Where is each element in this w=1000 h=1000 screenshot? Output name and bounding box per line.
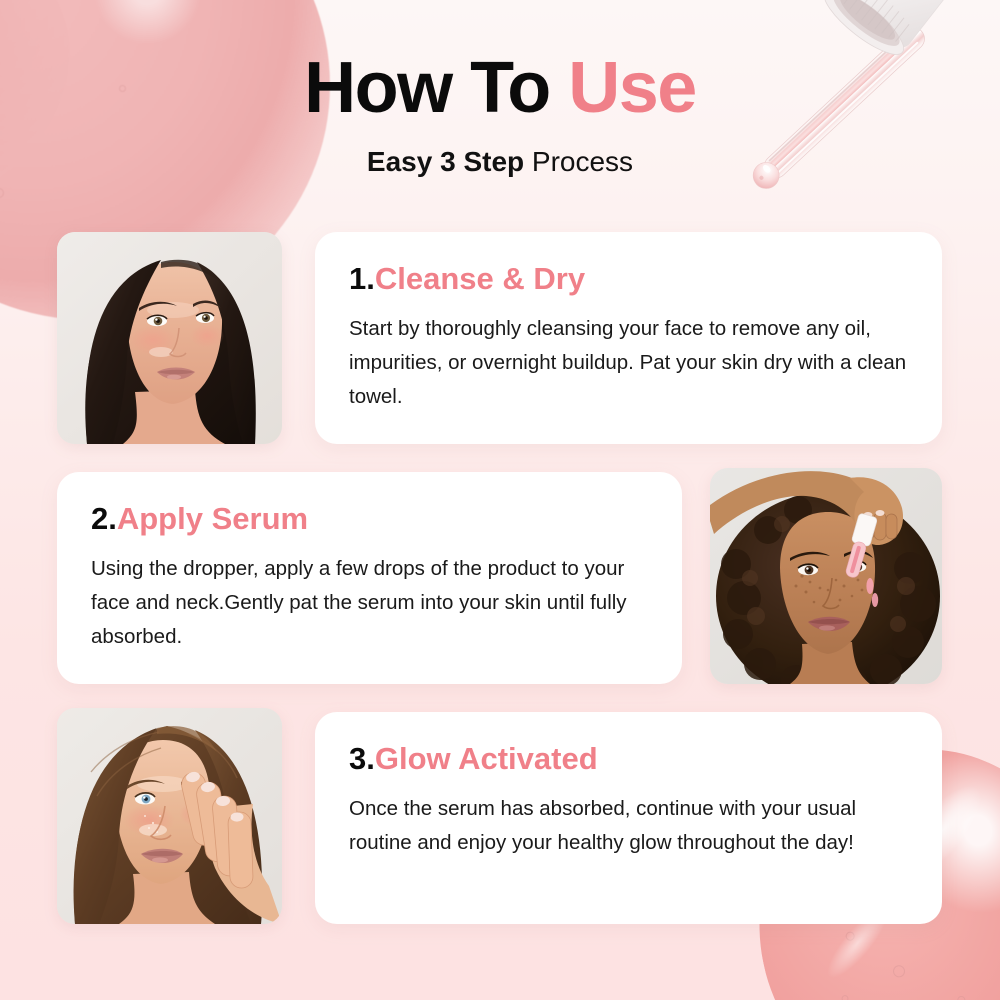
page-title-accent: Use <box>568 48 696 128</box>
step-1-number: 1. <box>349 261 375 296</box>
step-2-card: 2.Apply Serum Using the dropper, apply a… <box>57 472 682 684</box>
step-2-body: Using the dropper, apply a few drops of … <box>91 552 648 653</box>
step-2-title: Apply Serum <box>117 501 308 536</box>
step-1-card: 1.Cleanse & Dry Start by thoroughly clea… <box>315 232 942 444</box>
step-2-heading: 2.Apply Serum <box>91 502 648 536</box>
header: How To Use Easy 3 Step Process <box>0 52 1000 176</box>
step-1-photo <box>57 232 282 444</box>
step-3-heading: 3.Glow Activated <box>349 742 908 776</box>
step-2-number: 2. <box>91 501 117 536</box>
step-1-heading: 1.Cleanse & Dry <box>349 262 908 296</box>
step-3-title: Glow Activated <box>375 741 598 776</box>
step-3-card: 3.Glow Activated Once the serum has abso… <box>315 712 942 924</box>
page-title: How To Use <box>0 52 1000 124</box>
step-1-title: Cleanse & Dry <box>375 261 585 296</box>
bubble-icon <box>845 931 856 942</box>
step-1-body: Start by thoroughly cleansing your face … <box>349 312 908 413</box>
bubble-icon <box>841 994 849 1000</box>
subtitle-strong: Easy 3 Step <box>367 146 524 177</box>
step-2-photo <box>710 468 942 684</box>
bubble-icon <box>0 188 4 198</box>
page-subtitle: Easy 3 Step Process <box>0 148 1000 176</box>
step-3-body: Once the serum has absorbed, continue wi… <box>349 792 908 860</box>
step-3-number: 3. <box>349 741 375 776</box>
subtitle-plain: Process <box>524 146 633 177</box>
step-3-photo <box>57 708 282 924</box>
bubble-icon <box>892 964 906 978</box>
page-title-plain: How To <box>304 48 568 128</box>
bubble-icon <box>956 995 965 1000</box>
